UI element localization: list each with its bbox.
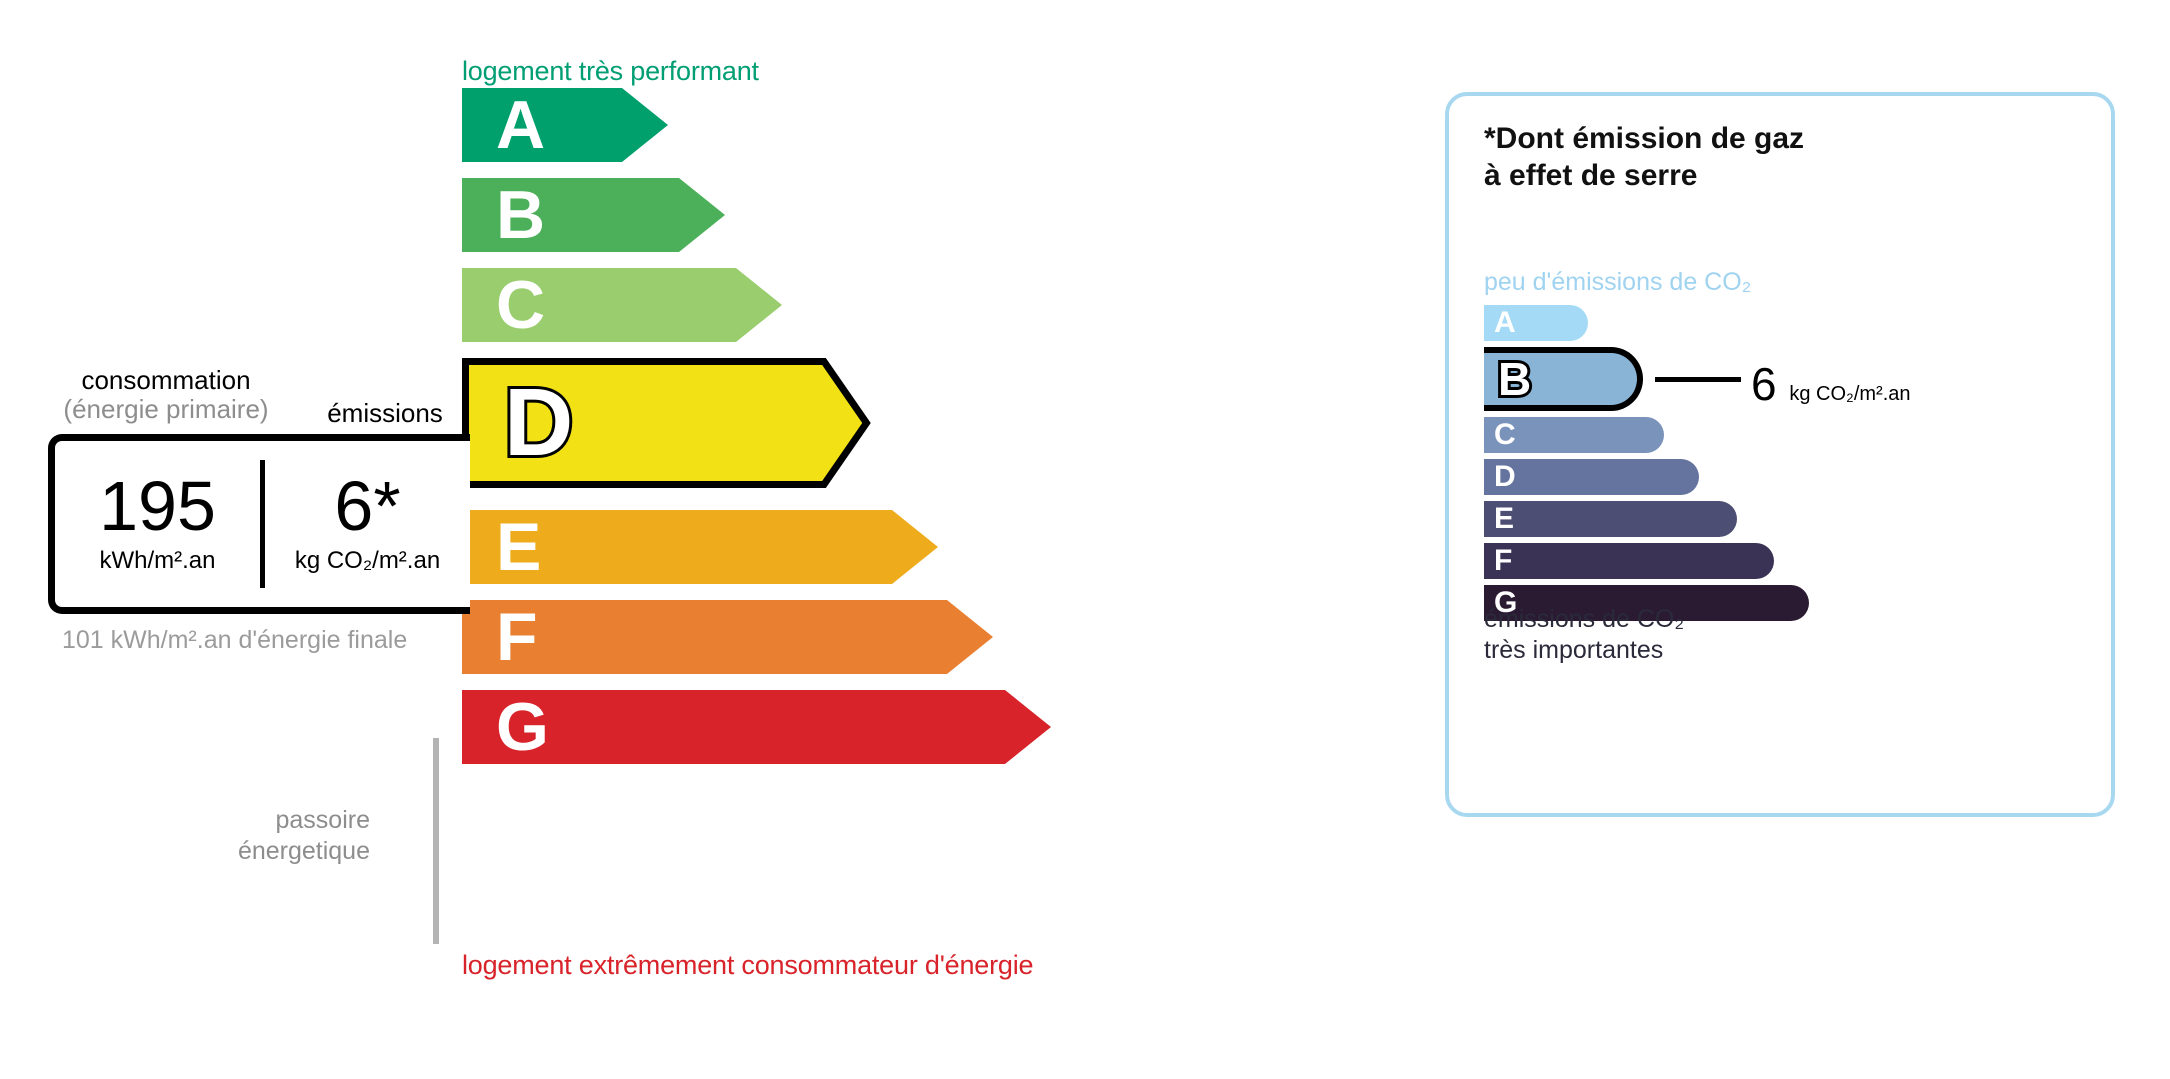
co2-bar-b-selected: B6 kg CO₂/m².an — [1484, 347, 1889, 411]
energy-bar-letter: A — [496, 91, 545, 159]
co2-bar-letter: D — [1494, 462, 1516, 492]
co2-value: 6 kg CO₂/m².an — [1751, 357, 1911, 411]
co2-bar-d: D — [1484, 459, 1959, 495]
energy-bar-letter: E — [496, 513, 541, 581]
energy-bar-letter: B — [496, 181, 545, 249]
co2-bar-letter: B — [1498, 356, 1531, 402]
co2-bar-fill — [1484, 501, 1737, 537]
passoire-energetique-note: passoire énergetique — [180, 805, 370, 867]
emission-value: 6* — [265, 473, 470, 540]
co2-value-unit: kg CO₂/m².an — [1789, 383, 1910, 405]
co2-bar-letter: F — [1494, 546, 1512, 576]
arrow-shape — [462, 690, 1051, 764]
consumption-label-group: consommation (énergie primaire) — [48, 366, 284, 424]
energy-performance-chart: logement très performant ABCDEFG consomm… — [0, 0, 1400, 1079]
dpe-infographic: logement très performant ABCDEFG consomm… — [0, 0, 2170, 1079]
arrow-shape — [462, 88, 668, 162]
value-card: 195 kWh/m².an 6* kg CO₂/m².an — [48, 434, 470, 614]
energy-bottom-caption: logement extrêmement consommateur d'éner… — [462, 950, 1033, 981]
co2-bar-fill — [1484, 543, 1774, 579]
co2-bottom-caption: émissions de CO₂ très importantes — [1484, 604, 1684, 665]
co2-bar-c: C — [1484, 417, 1924, 453]
emission-unit: kg CO₂/m².an — [265, 547, 470, 575]
final-energy-note: 101 kWh/m².an d'énergie finale — [62, 625, 407, 656]
energy-bar-c: C — [462, 268, 782, 342]
consumption-unit: kWh/m².an — [55, 547, 260, 575]
co2-panel: *Dont émission de gaz à effet de serre p… — [1445, 92, 2115, 817]
primary-energy-label: (énergie primaire) — [48, 395, 284, 424]
co2-panel-title: *Dont émission de gaz à effet de serre — [1484, 121, 1804, 194]
consumption-value-cell: 195 kWh/m².an — [55, 473, 260, 576]
energy-bar-letter: F — [496, 603, 538, 671]
co2-bar-list: AB6 kg CO₂/m².anCDEFG — [1484, 305, 2069, 627]
co2-top-caption: peu d'émissions de CO₂ — [1484, 268, 1751, 297]
co2-leader-line — [1655, 377, 1741, 382]
energy-bar-g: G — [462, 690, 1051, 764]
co2-bar-a: A — [1484, 305, 1848, 341]
emissions-label: émissions — [300, 398, 470, 429]
energy-bar-d-selected: D — [462, 358, 870, 488]
arrow-shape — [462, 600, 993, 674]
energy-bar-letter: C — [496, 271, 545, 339]
co2-bar-f: F — [1484, 543, 2034, 579]
consumption-label: consommation — [48, 366, 284, 395]
co2-bar-e: E — [1484, 501, 1997, 537]
energy-bar-b: B — [462, 178, 725, 252]
energy-bar-letter: G — [496, 693, 549, 761]
consumption-value: 195 — [55, 473, 260, 540]
co2-bar-fill — [1484, 459, 1699, 495]
co2-bar-letter: E — [1494, 504, 1514, 534]
energy-bar-f: F — [462, 600, 993, 674]
energy-bar-letter: D — [504, 375, 573, 471]
co2-bar-letter: C — [1494, 420, 1516, 450]
co2-bar-letter: A — [1494, 308, 1516, 338]
energy-bar-a: A — [462, 88, 668, 162]
energy-bar-e: E — [462, 510, 938, 584]
passoire-rule — [433, 738, 439, 944]
emission-value-cell: 6* kg CO₂/m².an — [265, 473, 470, 576]
